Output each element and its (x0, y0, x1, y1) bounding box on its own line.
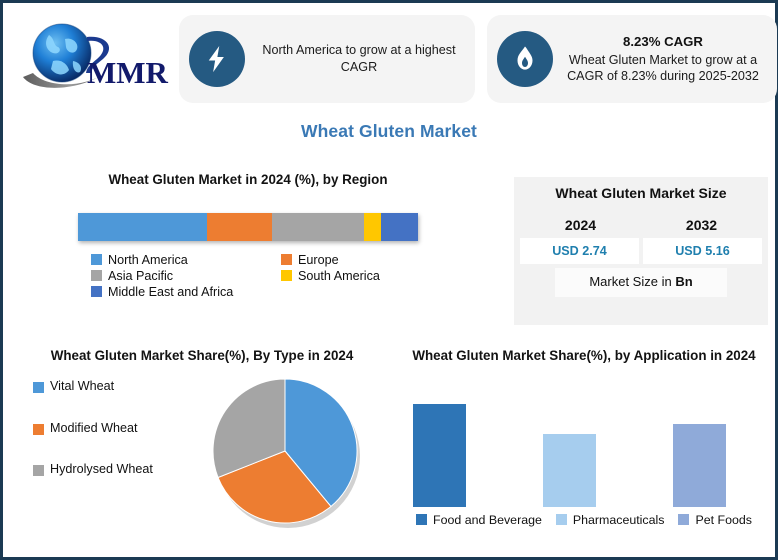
globe-icon: MMR (17, 17, 177, 101)
legend-label: Middle East and Africa (108, 285, 233, 299)
market-size-unit-value: Bn (675, 274, 692, 289)
legend-label: Asia Pacific (108, 269, 173, 283)
region-segment (207, 213, 272, 241)
region-chart-title: Wheat Gluten Market in 2024 (%), by Regi… (13, 171, 483, 189)
lightning-bolt-icon (189, 31, 245, 87)
market-size-box: Wheat Gluten Market Size 2024 2032 USD 2… (514, 177, 768, 325)
market-size-values: USD 2.74 USD 5.16 (520, 238, 762, 264)
type-legend: Vital WheatModified WheatHydrolysed Whea… (33, 379, 183, 504)
legend-item: Vital Wheat (33, 379, 183, 395)
legend-swatch-icon (91, 270, 102, 281)
legend-swatch-icon (33, 424, 44, 435)
legend-item: Europe (281, 253, 441, 267)
region-segment (78, 213, 207, 241)
legend-item: South America (281, 269, 441, 283)
legend-item: Asia Pacific (91, 269, 281, 283)
header-bar: MMR North America to grow at a highest C… (3, 3, 775, 115)
cagr-description: Wheat Gluten Market to grow at a CAGR of… (567, 53, 759, 84)
market-size-unit: Market Size in Bn (555, 268, 727, 297)
application-bar (543, 434, 596, 507)
value-start: USD 2.74 (520, 238, 639, 264)
market-size-years: 2024 2032 (520, 217, 762, 233)
cagr-heading: 8.23% CAGR (559, 33, 767, 50)
legend-label: Modified Wheat (50, 421, 138, 437)
header-card-text: North America to grow at a highest CAGR (253, 42, 465, 75)
header-card-text: 8.23% CAGR Wheat Gluten Market to grow a… (559, 33, 767, 85)
legend-swatch-icon (281, 254, 292, 265)
logo-text: MMR (87, 55, 169, 90)
mmr-logo: MMR (9, 11, 177, 107)
infographic-canvas: MMR North America to grow at a highest C… (0, 0, 778, 560)
legend-label: Hydrolysed Wheat (50, 462, 153, 478)
legend-swatch-icon (91, 286, 102, 297)
region-segment (381, 213, 418, 241)
application-bar (673, 424, 726, 507)
legend-label: Pharmaceuticals (573, 513, 665, 527)
legend-label: South America (298, 269, 380, 283)
type-chart-title: Wheat Gluten Market Share(%), By Type in… (13, 347, 391, 365)
type-chart: Wheat Gluten Market Share(%), By Type in… (13, 347, 391, 537)
legend-swatch-icon (33, 465, 44, 476)
region-stacked-bar (78, 213, 418, 241)
application-bar (413, 404, 466, 507)
legend-label: Food and Beverage (433, 513, 542, 527)
legend-swatch-icon (33, 382, 44, 393)
flame-icon (497, 31, 553, 87)
page-title: Wheat Gluten Market (3, 121, 775, 142)
legend-item: Food and Beverage (416, 513, 542, 527)
year-start-label: 2024 (520, 217, 641, 233)
legend-swatch-icon (556, 514, 567, 525)
region-legend: North AmericaEuropeAsia PacificSouth Ame… (91, 253, 441, 299)
application-legend: Food and BeveragePharmaceuticalsPet Food… (395, 513, 773, 527)
market-size-title: Wheat Gluten Market Size (520, 185, 762, 203)
legend-item: Modified Wheat (33, 421, 183, 437)
legend-label: Vital Wheat (50, 379, 114, 395)
region-chart: Wheat Gluten Market in 2024 (%), by Regi… (13, 171, 483, 299)
header-card-cagr: 8.23% CAGR Wheat Gluten Market to grow a… (487, 15, 777, 103)
legend-swatch-icon (91, 254, 102, 265)
legend-item: North America (91, 253, 281, 267)
legend-swatch-icon (416, 514, 427, 525)
legend-label: Europe (298, 253, 339, 267)
application-chart: Wheat Gluten Market Share(%), by Applica… (395, 347, 773, 527)
type-pie-chart (205, 373, 365, 533)
region-segment (272, 213, 364, 241)
legend-swatch-icon (678, 514, 689, 525)
market-size-unit-prefix: Market Size in (589, 274, 675, 289)
legend-item: Pharmaceuticals (556, 513, 665, 527)
year-end-label: 2032 (641, 217, 762, 233)
legend-swatch-icon (281, 270, 292, 281)
legend-label: North America (108, 253, 188, 267)
region-segment (364, 213, 381, 241)
header-card-north-america: North America to grow at a highest CAGR (179, 15, 475, 103)
legend-label: Pet Foods (695, 513, 751, 527)
application-chart-title: Wheat Gluten Market Share(%), by Applica… (395, 347, 773, 365)
application-bars (395, 377, 773, 507)
legend-item: Hydrolysed Wheat (33, 462, 183, 478)
legend-item: Middle East and Africa (91, 285, 281, 299)
value-end: USD 5.16 (643, 238, 762, 264)
legend-item: Pet Foods (678, 513, 751, 527)
